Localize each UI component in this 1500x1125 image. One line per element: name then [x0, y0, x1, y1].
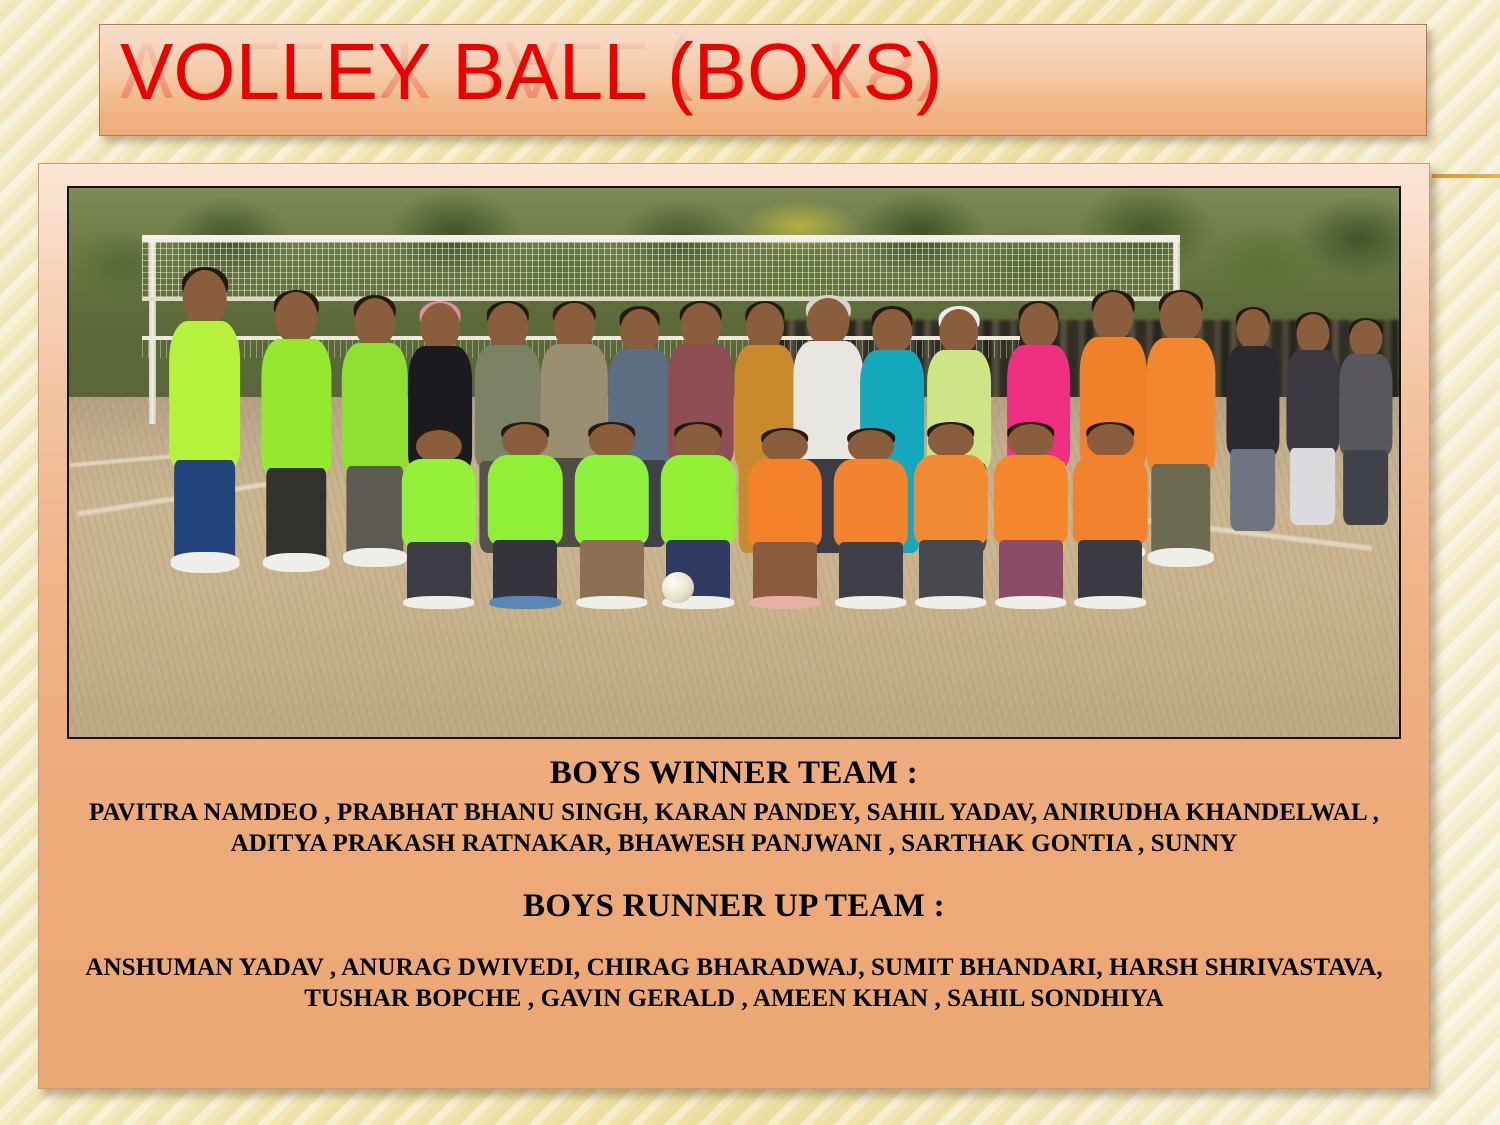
photo-volleyball	[662, 572, 694, 603]
photo-person-kneeling	[914, 424, 988, 605]
caption-block: BOYS WINNER TEAM : PAVITRA NAMDEO , PRAB…	[53, 752, 1415, 1014]
photo-spectator	[1339, 320, 1392, 523]
caption-spacer	[53, 927, 1415, 949]
winner-names: PAVITRA NAMDEO , PRABHAT BHANU SINGH, KA…	[53, 797, 1415, 859]
photo-person	[169, 270, 241, 566]
photo-person-kneeling	[834, 430, 908, 606]
photo-person	[262, 292, 331, 567]
caption-spacer	[53, 859, 1415, 885]
decorative-rule	[1432, 174, 1500, 178]
photo-person	[342, 298, 409, 562]
photo-person-kneeling	[747, 430, 821, 606]
photo-person-kneeling	[574, 424, 648, 605]
photo-person-kneeling	[1073, 424, 1147, 605]
runner-up-names: ANSHUMAN YADAV , ANURAG DWIVEDI, CHIRAG …	[53, 952, 1415, 1014]
photo-spectator	[1226, 309, 1279, 529]
slide-title-box: VOLLEY BALL (BOYS) VOLLEY BALL (BOYS)	[99, 24, 1427, 136]
team-photo-image	[69, 188, 1399, 737]
page-title: VOLLEY BALL (BOYS)	[120, 24, 943, 131]
photo-spectator	[1286, 314, 1339, 523]
winner-heading: BOYS WINNER TEAM :	[53, 752, 1415, 794]
presentation-slide: VOLLEY BALL (BOYS) VOLLEY BALL (BOYS)	[0, 0, 1500, 1125]
photo-person	[1146, 292, 1215, 561]
photo-person-kneeling	[402, 430, 476, 606]
runner-up-heading: BOYS RUNNER UP TEAM :	[53, 885, 1415, 927]
photo-person-kneeling	[993, 424, 1067, 605]
photo-person-kneeling	[488, 424, 562, 605]
content-panel: BOYS WINNER TEAM : PAVITRA NAMDEO , PRAB…	[38, 163, 1430, 1089]
team-photo	[67, 186, 1401, 739]
